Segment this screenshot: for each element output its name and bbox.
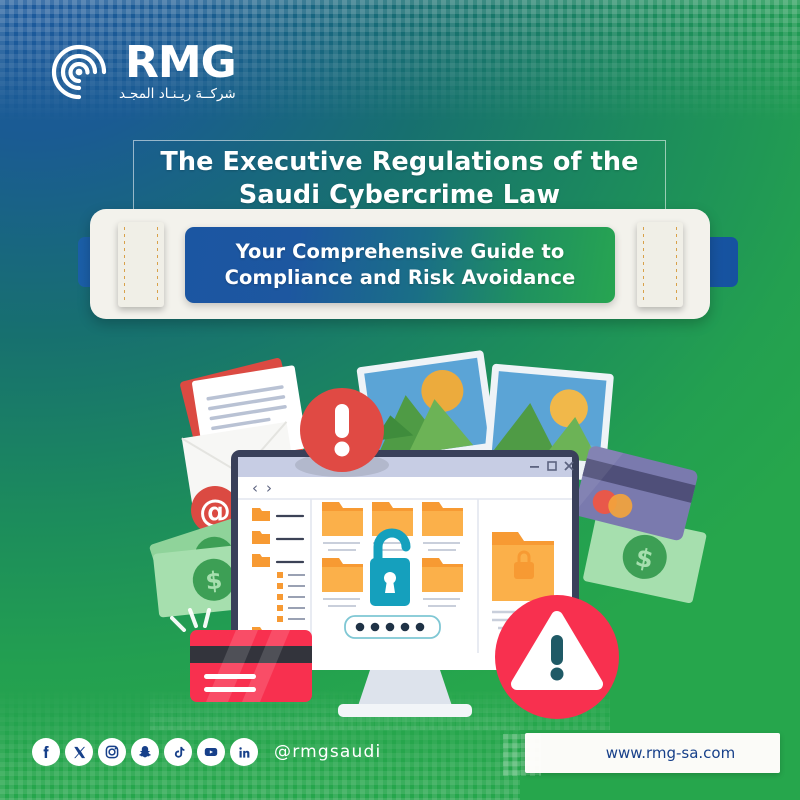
snapchat-icon[interactable] xyxy=(131,738,159,766)
brand-arabic-name: شركــة ريـنـاد المجـد xyxy=(119,86,236,102)
folder-icon xyxy=(422,558,463,606)
linkedin-icon[interactable] xyxy=(230,738,258,766)
warning-triangle-circle-icon xyxy=(495,595,619,719)
nav-forward-icon: › xyxy=(266,479,272,497)
banner-line-1: Your Comprehensive Guide to xyxy=(236,240,565,263)
social-links[interactable]: @rmgsaudi xyxy=(32,738,381,766)
banner-line-2: Compliance and Risk Avoidance xyxy=(225,266,576,289)
facebook-icon[interactable] xyxy=(32,738,60,766)
youtube-icon[interactable] xyxy=(197,738,225,766)
credit-card-red xyxy=(190,630,312,702)
locked-folder-icon xyxy=(492,532,554,601)
brand-name: RMG xyxy=(125,42,236,84)
ribbon-tab-left xyxy=(118,222,164,307)
poster-canvas: RMG شركــة ريـنـاد المجـد The Executive … xyxy=(0,0,800,800)
nav-back-icon: ‹ xyxy=(252,479,258,497)
instagram-icon[interactable] xyxy=(98,738,126,766)
brand-logo[interactable]: RMG شركــة ريـنـاد المجـد xyxy=(50,42,236,102)
data-security-breach-illustration: @ $ $ $ xyxy=(0,330,800,750)
ribbon-tab-right xyxy=(637,222,683,307)
headline-line-1: The Executive Regulations of the xyxy=(133,146,666,179)
website-url: www.rmg-sa.com xyxy=(570,744,735,762)
folder-icon xyxy=(322,558,363,606)
credit-card-purple xyxy=(573,445,699,542)
folder-icon xyxy=(422,502,463,550)
password-dots-field xyxy=(345,616,440,638)
page-title: The Executive Regulations of the Saudi C… xyxy=(133,146,666,211)
social-handle: @rmgsaudi xyxy=(274,742,381,762)
svg-text:$: $ xyxy=(204,566,224,596)
rmg-spiral-logo-icon xyxy=(50,43,108,101)
subtitle-plate: Your Comprehensive Guide to Compliance a… xyxy=(185,227,615,303)
folder-icon xyxy=(322,502,363,550)
headline-line-2: Saudi Cybercrime Law xyxy=(133,179,666,212)
x-twitter-icon[interactable] xyxy=(65,738,93,766)
website-badge[interactable]: www.rmg-sa.com xyxy=(525,733,780,773)
tiktok-icon[interactable] xyxy=(164,738,192,766)
